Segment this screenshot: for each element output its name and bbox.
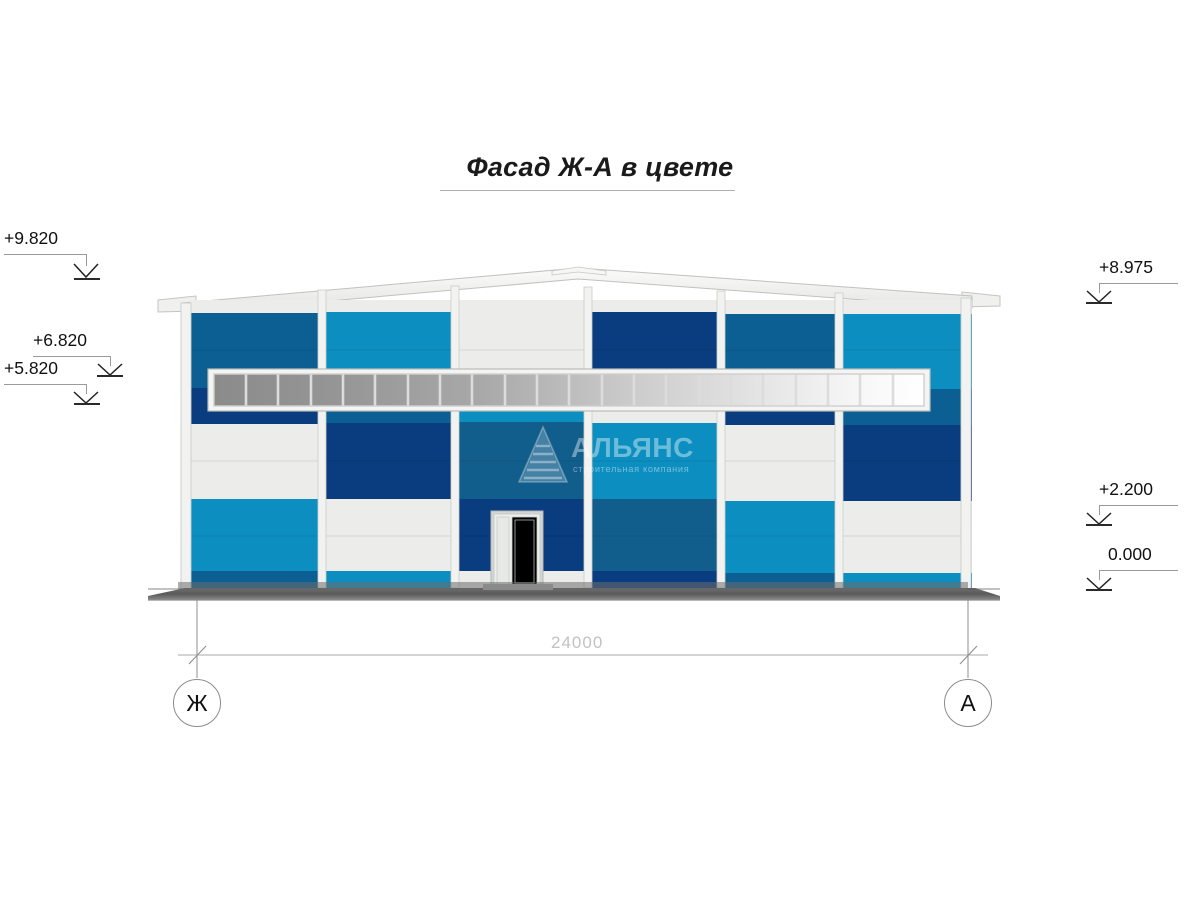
panel-column-1 <box>190 288 320 589</box>
dimension-value: 24000 <box>551 633 603 653</box>
level-arrow-icon <box>1077 290 1121 306</box>
drawing-sheet: Фасад Ж-А в цвете <box>0 0 1200 900</box>
panel-column-4 <box>591 288 719 589</box>
ribbon-window[interactable] <box>208 369 930 411</box>
level-arrow-icon <box>64 391 108 407</box>
axis-label: Ж <box>186 690 207 717</box>
wall-panels <box>190 285 972 589</box>
level-tick <box>97 375 123 377</box>
level-tick <box>1086 589 1112 591</box>
leader-line <box>1099 570 1178 571</box>
facade-elevation <box>0 0 1200 900</box>
entrance-door[interactable] <box>491 511 543 588</box>
ground-line <box>148 582 1000 600</box>
axis-label: A <box>960 690 975 717</box>
level-tick <box>1086 302 1112 304</box>
window-mullions <box>246 374 893 406</box>
axis-bubble-zh[interactable]: Ж <box>173 679 221 727</box>
axis-bubble-a[interactable]: A <box>944 679 992 727</box>
level-arrow-icon <box>88 363 132 379</box>
level-arrow-icon <box>1077 512 1121 528</box>
leader-line <box>1099 283 1178 284</box>
level-tick <box>74 278 100 280</box>
level-tick <box>74 403 100 405</box>
panel-column-6 <box>842 294 972 589</box>
level-arrow-icon <box>1077 577 1121 593</box>
leader-line <box>33 356 110 357</box>
panel-column-2 <box>325 288 453 589</box>
leader-line <box>1099 505 1178 506</box>
leader-line <box>4 254 86 255</box>
panel-column-5 <box>724 292 837 589</box>
door-leaf-narrow <box>497 517 509 586</box>
door-leaf-wide <box>512 517 537 586</box>
level-tick <box>1086 524 1112 526</box>
leader-line <box>4 384 86 385</box>
